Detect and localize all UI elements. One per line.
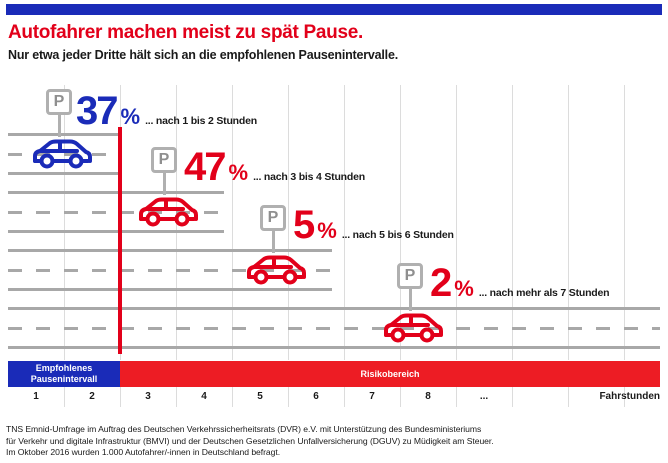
lane-edge-top: [8, 249, 332, 252]
parking-sign-icon: P: [260, 205, 286, 231]
stat-symbol-1: %: [121, 106, 141, 128]
lane-edge-bottom: [8, 346, 660, 349]
car-icon-3: [244, 254, 308, 291]
axis-tickline: [288, 387, 289, 407]
parking-sign-post: [272, 231, 275, 253]
top-accent-bar: [6, 4, 662, 15]
stat-value-3: 5: [293, 205, 313, 245]
axis-tickline: [232, 387, 233, 407]
parking-sign-icon: P: [46, 89, 72, 115]
stat-caption-2: ... nach 3 bis 4 Stunden: [253, 171, 365, 183]
axis-tick-ellipsis: ...: [480, 391, 488, 402]
infographic-page: Autofahrer machen meist zu spät Pause. N…: [0, 0, 668, 463]
axis-tick-3: 3: [145, 391, 151, 402]
axis-tickline: [568, 387, 569, 407]
stat-label-2: 47 % ... nach 3 bis 4 Stunden: [184, 147, 365, 187]
stat-symbol-2: %: [229, 162, 249, 184]
stat-label-4: 2 % ... nach mehr als 7 Stunden: [430, 263, 609, 303]
lane-edge-top: [8, 307, 660, 310]
stat-caption-3: ... nach 5 bis 6 Stunden: [342, 229, 454, 241]
lane-edge-top: [8, 133, 120, 136]
axis-tick-4: 4: [201, 391, 207, 402]
car-icon-1: [30, 138, 94, 175]
axis-tickline: [120, 387, 121, 407]
axis-tick-8: 8: [425, 391, 431, 402]
legend-bars: Empfohlenes Pausenintervall Risikobereic…: [8, 361, 660, 387]
chart-area: P 37 % ... nach 1 bis 2 Stunden: [8, 85, 660, 360]
axis-tickline: [400, 387, 401, 407]
footnote-line-3: Im Oktober 2016 wurden 1.000 Autofahrer/…: [6, 447, 662, 459]
stat-label-3: 5 % ... nach 5 bis 6 Stunden: [293, 205, 454, 245]
stat-value-1: 37: [76, 91, 117, 131]
axis-tick-1: 1: [33, 391, 39, 402]
axis-tickline: [176, 387, 177, 407]
axis-tickline: [64, 387, 65, 407]
lane-dash: [8, 327, 660, 330]
axis-tickline: [456, 387, 457, 407]
stat-caption-1: ... nach 1 bis 2 Stunden: [145, 115, 257, 127]
recommended-limit-line: [118, 127, 122, 354]
page-title: Autofahrer machen meist zu spät Pause.: [8, 22, 363, 44]
stat-value-2: 47: [184, 147, 225, 187]
parking-sign-post: [409, 289, 412, 311]
footnote-line-1: TNS Emnid-Umfrage im Auftrag des Deutsch…: [6, 424, 662, 436]
legend-safe-zone: Empfohlenes Pausenintervall: [8, 361, 120, 387]
legend-risk-label: Risikobereich: [360, 369, 419, 379]
legend-safe-line1: Empfohlenes: [36, 363, 93, 374]
axis-name: Fahrstunden: [599, 391, 660, 402]
axis-tick-7: 7: [369, 391, 375, 402]
parking-sign-icon: P: [397, 263, 423, 289]
page-subtitle: Nur etwa jeder Dritte hält sich an die e…: [8, 48, 398, 62]
lane-edge-top: [8, 191, 224, 194]
axis-tick-5: 5: [257, 391, 263, 402]
parking-sign-icon: P: [151, 147, 177, 173]
axis-tickline: [512, 387, 513, 407]
stat-symbol-3: %: [317, 220, 337, 242]
legend-safe-line2: Pausenintervall: [31, 374, 98, 385]
footnote: TNS Emnid-Umfrage im Auftrag des Deutsch…: [6, 424, 662, 459]
axis-tickline: [344, 387, 345, 407]
car-icon-2: [136, 196, 200, 233]
stat-value-4: 2: [430, 263, 450, 303]
parking-sign-post: [58, 115, 61, 137]
road-lane-4: [8, 307, 660, 349]
car-icon-4: [381, 312, 445, 349]
legend-risk-zone: Risikobereich: [120, 361, 660, 387]
stat-label-1: 37 % ... nach 1 bis 2 Stunden: [76, 91, 257, 131]
x-axis: 1 2 3 4 5 6 7 8 ... Fahrstunden: [8, 387, 660, 409]
axis-tick-6: 6: [313, 391, 319, 402]
footnote-line-2: für Verkehr und digitale Infrastruktur (…: [6, 436, 662, 448]
axis-tick-2: 2: [89, 391, 95, 402]
parking-sign-post: [163, 173, 166, 195]
stat-caption-4: ... nach mehr als 7 Stunden: [479, 287, 610, 299]
stat-symbol-4: %: [454, 278, 474, 300]
